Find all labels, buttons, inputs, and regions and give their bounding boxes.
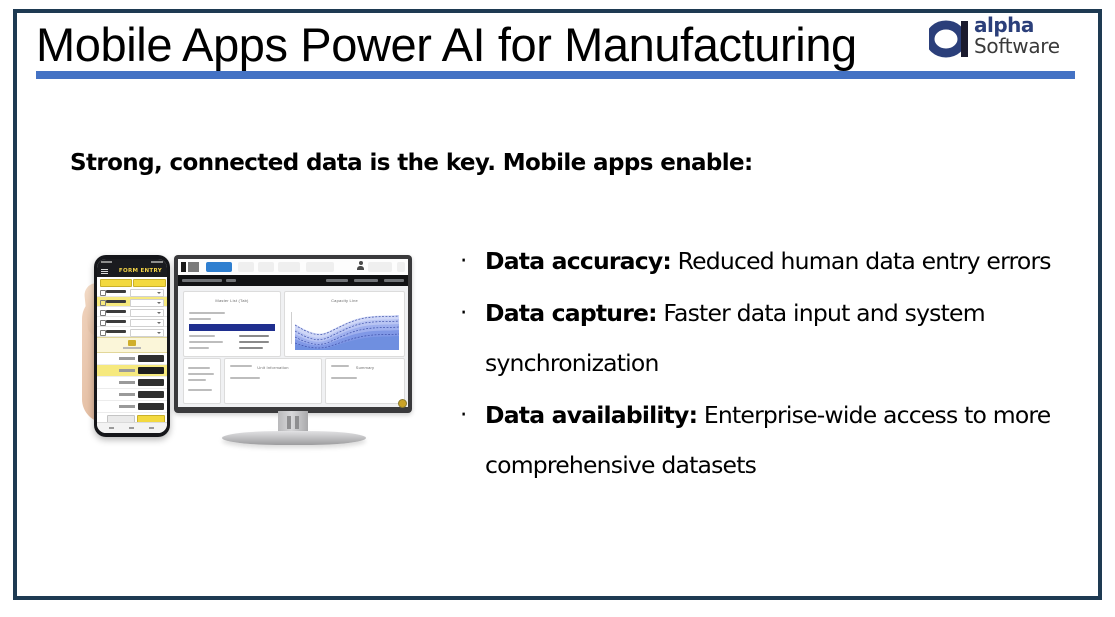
dashboard-logo-icon [181, 262, 199, 272]
chevron-down-icon[interactable] [130, 289, 164, 297]
logo-wordmark: alpha Software [974, 15, 1060, 57]
section-icon [128, 340, 136, 346]
list-item[interactable] [97, 365, 167, 377]
detail-card-left[interactable] [183, 358, 221, 404]
chevron-down-icon[interactable] [130, 319, 164, 327]
chart-plot [295, 310, 399, 350]
bullet-marker: · [460, 288, 467, 338]
phone-action-buttons [97, 277, 167, 287]
area-chart [291, 310, 399, 350]
phone-app-title: FORM ENTRY [119, 268, 162, 274]
product-photo: Master List (Tab) Capacity Line [82, 243, 412, 458]
list-item[interactable] [97, 377, 167, 389]
logo-line-software: Software [974, 36, 1060, 57]
bullet-list: ·Data accuracy: Reduced human data entry… [455, 236, 1095, 492]
list-item[interactable] [97, 389, 167, 401]
user-info [368, 262, 392, 272]
chevron-down-icon[interactable] [130, 329, 164, 337]
card-title: Master List (Tab) [184, 298, 280, 303]
monitor-screen: Master List (Tab) Capacity Line [178, 259, 408, 407]
chart-y-axis [291, 312, 292, 344]
row-action-button[interactable] [138, 403, 164, 410]
form-field-5[interactable] [97, 327, 167, 337]
capacity-chart-card[interactable]: Capacity Line [284, 291, 405, 357]
dashboard-toolbar [178, 259, 408, 276]
title-underline [36, 71, 1075, 79]
phone-app-header: FORM ENTRY [97, 266, 167, 277]
monitor: Master List (Tab) Capacity Line [174, 255, 412, 413]
card-title: Capacity Line [285, 298, 404, 303]
bullet-term: Data capture: [485, 299, 657, 327]
form-field-2[interactable] [97, 297, 167, 307]
slide: Mobile Apps Power AI for Manufacturing a… [0, 0, 1115, 617]
row-action-button[interactable] [138, 367, 164, 374]
tab-5[interactable] [306, 262, 334, 272]
phone-section-divider [97, 337, 167, 353]
primary-action-button[interactable] [100, 279, 132, 287]
tab-2[interactable] [238, 262, 254, 272]
form-field-3[interactable] [97, 307, 167, 317]
row-action-button[interactable] [138, 391, 164, 398]
alpha-a-mark-icon [929, 18, 971, 58]
phone-status-bar [97, 259, 167, 266]
page-title: Mobile Apps Power AI for Manufacturing [36, 17, 857, 73]
bullet-term: Data availability: [485, 401, 697, 429]
hamburger-menu-icon[interactable] [101, 269, 108, 274]
tab-3[interactable] [258, 262, 274, 272]
alpha-software-logo: alpha Software [929, 16, 1059, 66]
detail-card-center[interactable]: Unit Information [224, 358, 322, 404]
subheading: Strong, connected data is the key. Mobil… [70, 150, 753, 176]
dashboard-subbar [178, 275, 408, 286]
form-field-1[interactable] [97, 287, 167, 297]
phone-nav-bar[interactable] [97, 422, 167, 433]
phone-screen: FORM ENTRY [97, 259, 167, 433]
monitor-stand-base [222, 431, 366, 445]
list-item: ·Data availability: Enterprise-wide acce… [455, 390, 1095, 490]
bullet-marker: · [460, 390, 467, 440]
smartphone: FORM ENTRY [94, 255, 170, 437]
bullet-text: Reduced human data entry errors [671, 247, 1051, 275]
chevron-down-icon[interactable] [130, 309, 164, 317]
gear-icon[interactable] [397, 262, 405, 272]
dashboard-body: Master List (Tab) Capacity Line [178, 286, 408, 407]
list-item: ·Data capture: Faster data input and sys… [455, 288, 1095, 388]
list-item[interactable] [97, 401, 167, 413]
tab-4[interactable] [278, 262, 300, 272]
row-action-button[interactable] [138, 379, 164, 386]
bullet-term: Data accuracy: [485, 247, 671, 275]
user-avatar-icon[interactable] [357, 261, 364, 270]
detail-card-right[interactable]: Summary [325, 358, 405, 404]
bullet-marker: · [460, 236, 467, 286]
master-list-card[interactable]: Master List (Tab) [183, 291, 281, 357]
logo-line-alpha: alpha [974, 15, 1060, 35]
row-action-button[interactable] [138, 355, 164, 362]
list-item: ·Data accuracy: Reduced human data entry… [455, 236, 1095, 286]
chevron-down-icon[interactable] [130, 299, 164, 307]
list-item[interactable] [97, 353, 167, 365]
tab-active[interactable] [206, 262, 232, 272]
secondary-action-button[interactable] [133, 279, 166, 287]
power-indicator-icon [398, 399, 407, 408]
form-field-4[interactable] [97, 317, 167, 327]
